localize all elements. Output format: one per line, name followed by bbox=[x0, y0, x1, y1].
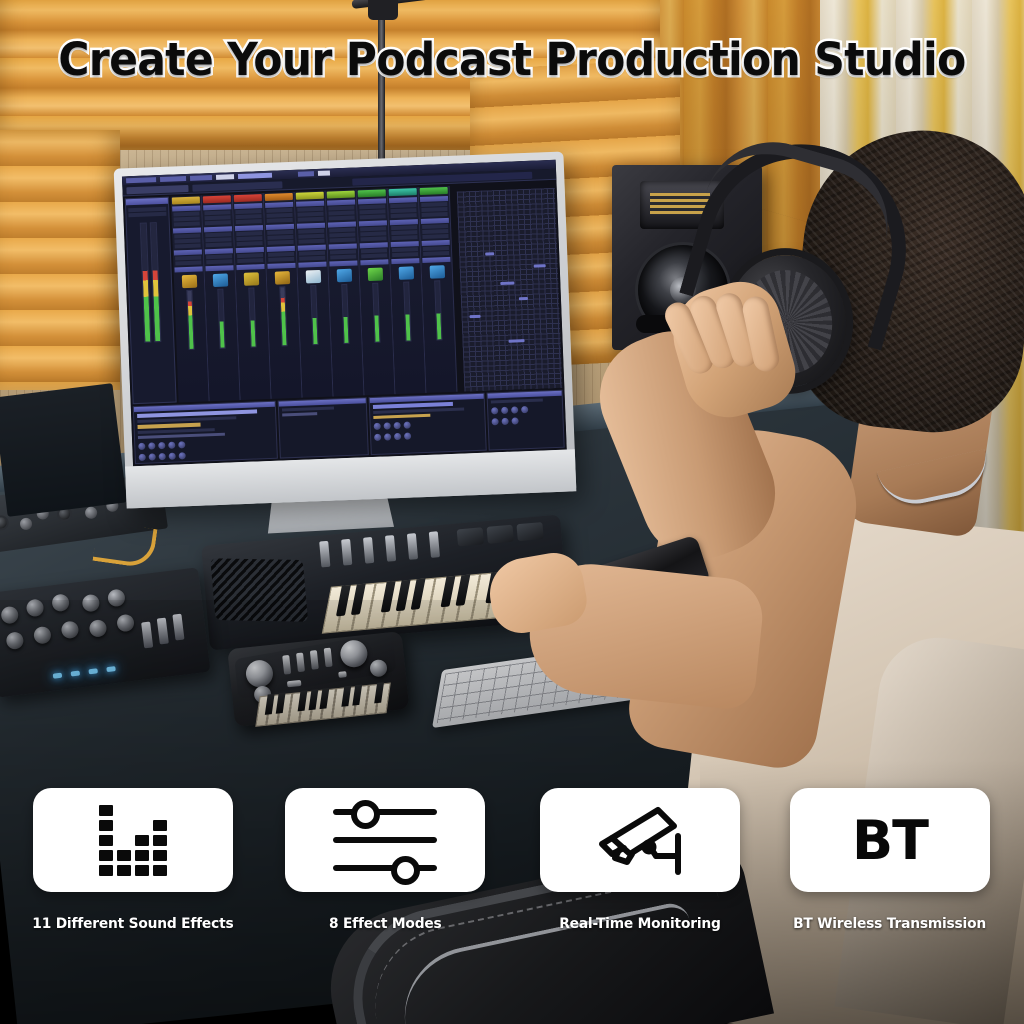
slider-track-middle bbox=[333, 837, 437, 843]
sliders-icon bbox=[333, 803, 437, 877]
slider-track-bottom bbox=[333, 865, 437, 871]
feature-badges: 11 Different Sound Effects 8 Effect Mode… bbox=[0, 788, 1024, 948]
cctv-camera-icon bbox=[586, 800, 694, 880]
feature-label: 8 Effect Modes bbox=[329, 916, 442, 932]
slider-knob-top bbox=[351, 800, 380, 829]
feature-label: Real-Time Monitoring bbox=[559, 916, 720, 932]
bluetooth-text-icon: BT bbox=[852, 809, 928, 872]
feature-sound-effects: 11 Different Sound Effects bbox=[33, 788, 233, 932]
feature-label: BT Wireless Transmission bbox=[794, 916, 987, 932]
slider-knob-bottom bbox=[391, 856, 420, 885]
feature-label: 11 Different Sound Effects bbox=[32, 916, 233, 932]
feature-icon-card bbox=[285, 788, 485, 892]
feature-icon-card bbox=[33, 788, 233, 892]
slider-track-top bbox=[333, 809, 437, 815]
feature-icon-card bbox=[540, 788, 740, 892]
feature-effect-modes: 8 Effect Modes bbox=[285, 788, 485, 932]
feature-icon-card: BT bbox=[790, 788, 990, 892]
feature-real-time-monitoring: Real-Time Monitoring bbox=[540, 788, 740, 932]
page-title: Create Your Podcast Production Studio bbox=[31, 33, 994, 86]
feature-bt-wireless: BT BT Wireless Transmission bbox=[790, 788, 990, 932]
product-marketing-image: Create Your Podcast Production Studio 11… bbox=[0, 0, 1024, 1024]
equalizer-icon bbox=[99, 805, 167, 876]
